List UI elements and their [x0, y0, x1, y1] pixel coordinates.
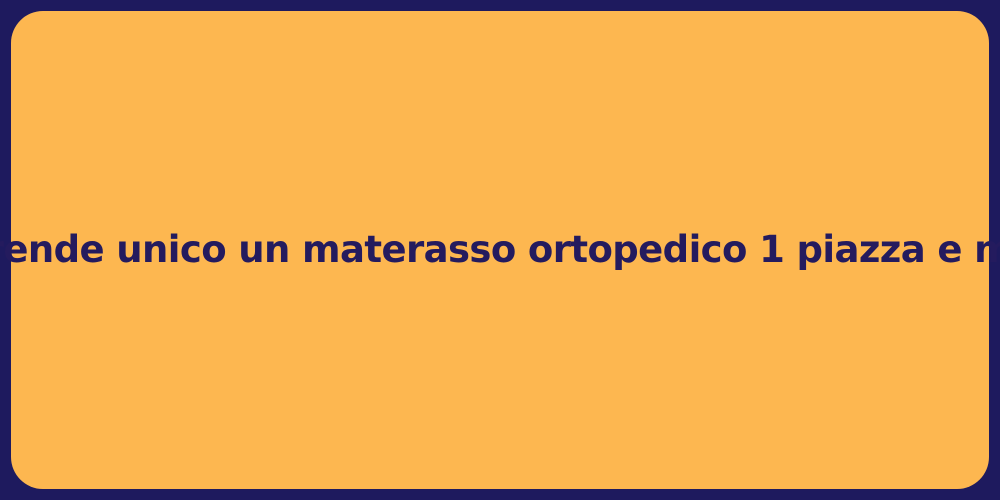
page-title: Cosa rende unico un materasso ortopedico… — [0, 226, 1000, 274]
page-background: Cosa rende unico un materasso ortopedico… — [0, 0, 1000, 500]
question-card-panel: Cosa rende unico un materasso ortopedico… — [11, 11, 989, 489]
